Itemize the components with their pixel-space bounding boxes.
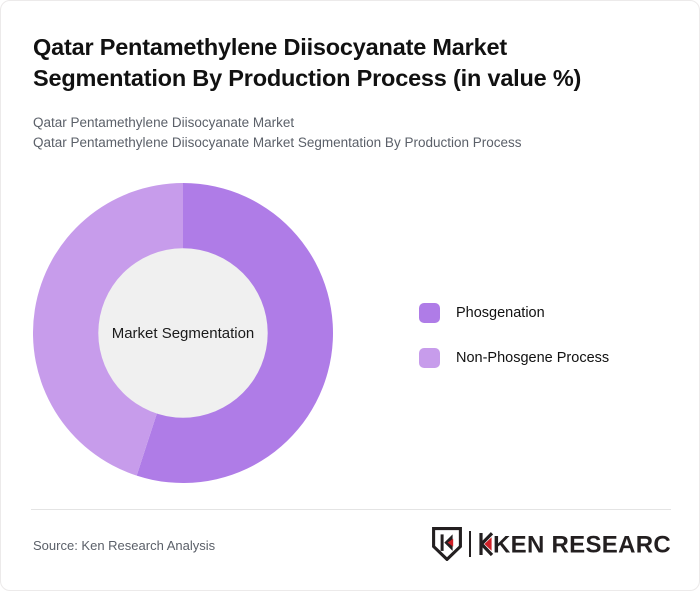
donut-chart-svg: [33, 183, 333, 483]
legend-item-non-phosgene-process[interactable]: Non-Phosgene Process: [419, 346, 609, 370]
legend-item-label: Non-Phosgene Process: [456, 350, 609, 366]
chart-legend: Phosgenation Non-Phosgene Process: [419, 301, 609, 391]
subtitle-line-2: Qatar Pentamethylene Diisocyanate Market…: [33, 133, 653, 153]
ken-research-logo: KEN RESEARCH: [432, 526, 671, 562]
subtitle-line-1: Qatar Pentamethylene Diisocyanate Market: [33, 113, 653, 133]
page-title: Qatar Pentamethylene Diisocyanate Market…: [33, 32, 633, 94]
legend-item-label: Phosgenation: [456, 305, 545, 321]
source-note: Source: Ken Research Analysis: [33, 538, 215, 553]
wordmark-text: KEN RESEARCH: [493, 531, 671, 558]
logo-wordmark: KEN RESEARCH: [478, 530, 671, 558]
donut-chart: Market Segmentation: [33, 183, 333, 483]
subtitle-block: Qatar Pentamethylene Diisocyanate Market…: [33, 113, 653, 153]
legend-swatch-icon: [419, 348, 440, 368]
legend-swatch-icon: [419, 303, 440, 323]
logo-k-stem: [441, 534, 444, 551]
ken-research-shield-icon: [432, 527, 462, 561]
logo-separator: [469, 531, 471, 557]
donut-hole: [98, 248, 267, 417]
legend-item-phosgenation[interactable]: Phosgenation: [419, 301, 609, 325]
chart-card: Qatar Pentamethylene Diisocyanate Market…: [0, 0, 700, 591]
footer-divider: [31, 509, 671, 510]
